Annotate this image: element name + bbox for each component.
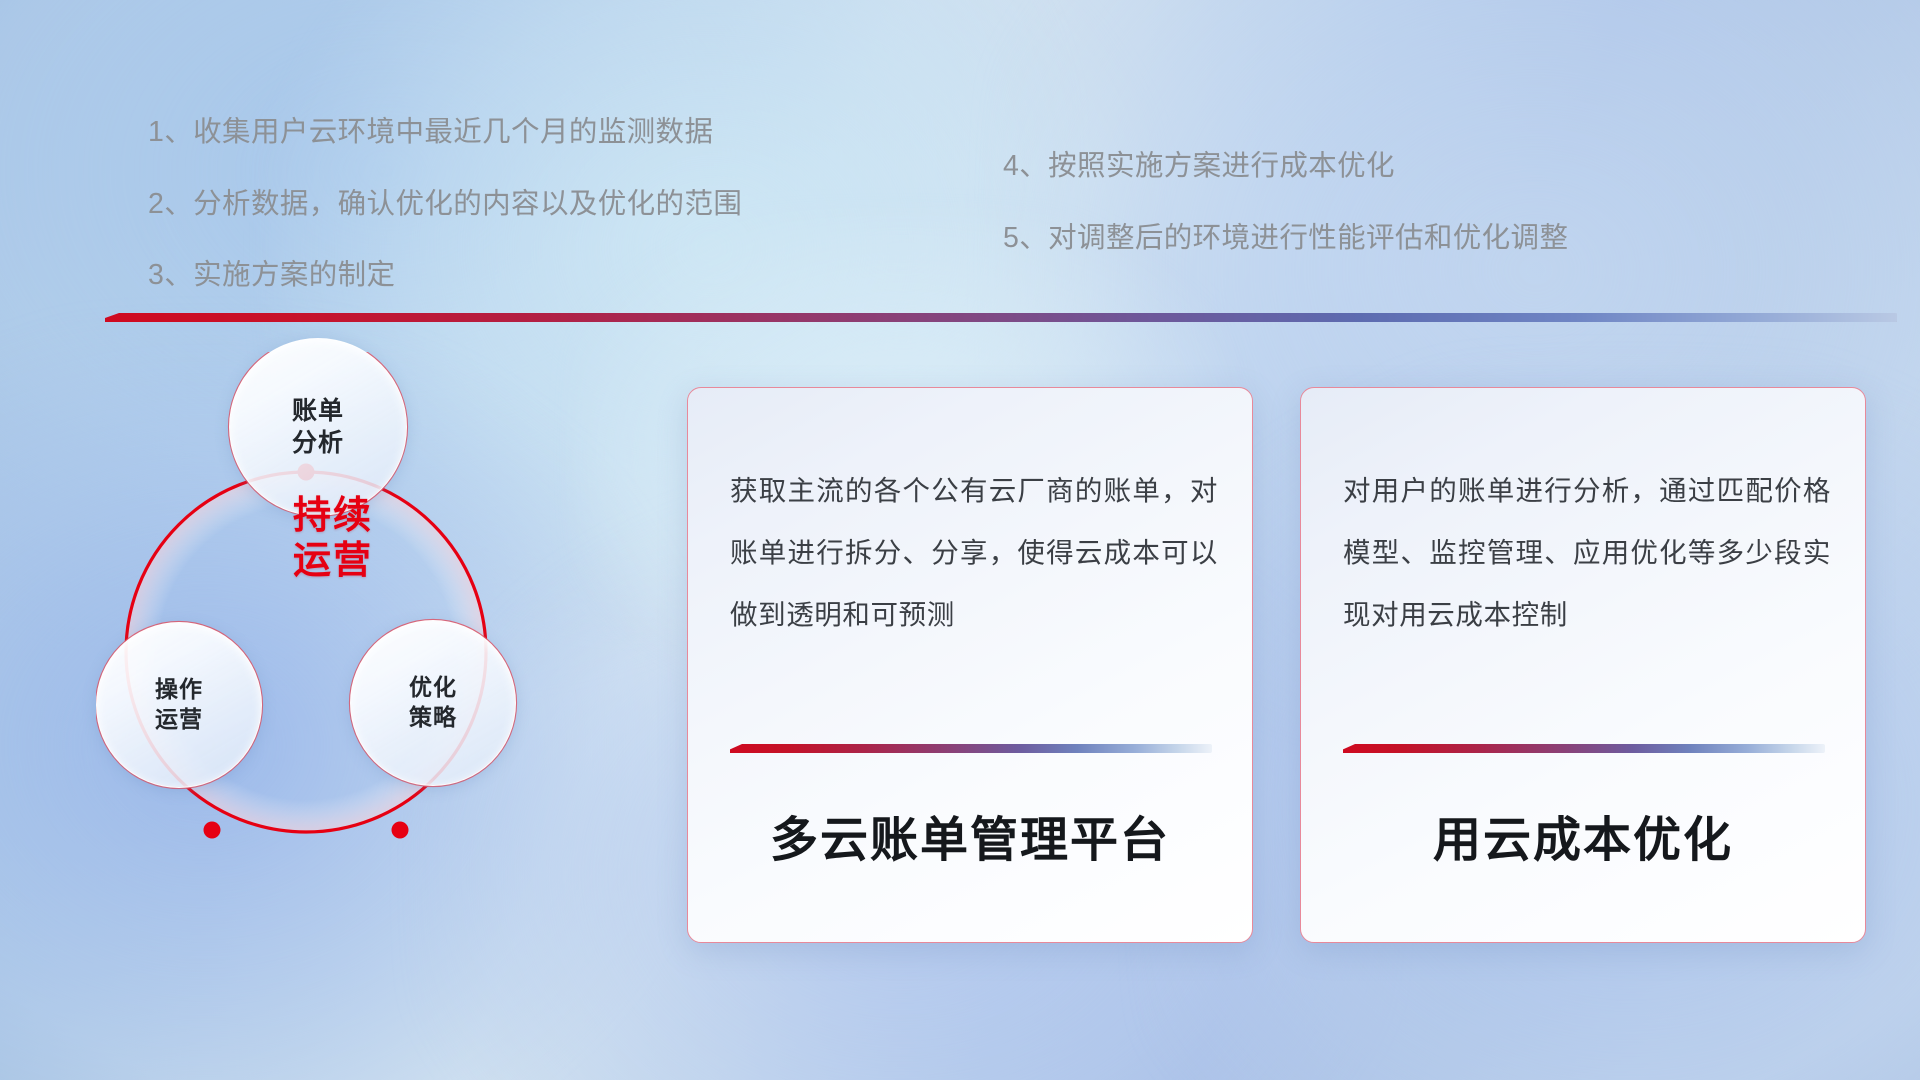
steps-right-column: 4、按照实施方案进行成本优化 5、对调整后的环境进行性能评估和优化调整	[1003, 152, 1568, 295]
card-title: 用云成本优化	[1301, 800, 1865, 870]
venn-node-operations-line2: 运营	[155, 705, 203, 735]
venn-center-label: 持续 运营	[248, 494, 418, 584]
card-multicloud-billing-platform[interactable]: 获取主流的各个公有云厂商的账单，对账单进行拆分、分享，使得云成本可以做到透明和可…	[687, 387, 1253, 943]
card-divider-rule	[1343, 744, 1825, 753]
card-cloud-cost-optimization[interactable]: 对用户的账单进行分析，通过匹配价格模型、监控管理、应用优化等多少段实现对用云成本…	[1300, 387, 1866, 943]
venn-marker-dot-left	[204, 822, 221, 839]
step-item-1: 1、收集用户云环境中最近几个月的监测数据	[148, 118, 742, 147]
venn-node-bill-analysis[interactable]: 账单 分析	[229, 338, 407, 516]
steps-left-column: 1、收集用户云环境中最近几个月的监测数据 2、分析数据，确认优化的内容以及优化的…	[148, 118, 742, 333]
venn-center-label-line1: 持续	[248, 494, 418, 539]
step-item-2: 2、分析数据，确认优化的内容以及优化的范围	[148, 190, 742, 219]
step-item-4: 4、按照实施方案进行成本优化	[1003, 152, 1568, 181]
venn-node-optimization-strategy-line1: 优化	[409, 673, 457, 703]
venn-node-operations[interactable]: 操作 运营	[96, 622, 262, 788]
venn-center-label-line2: 运营	[248, 539, 418, 584]
step-item-5: 5、对调整后的环境进行性能评估和优化调整	[1003, 224, 1568, 253]
venn-node-optimization-strategy-line2: 策略	[409, 703, 457, 733]
card-body-text: 对用户的账单进行分析，通过匹配价格模型、监控管理、应用优化等多少段实现对用云成本…	[1343, 460, 1831, 646]
venn-node-optimization-strategy[interactable]: 优化 策略	[350, 620, 516, 786]
step-item-3: 3、实施方案的制定	[148, 261, 742, 290]
steps-list: 1、收集用户云环境中最近几个月的监测数据 2、分析数据，确认优化的内容以及优化的…	[0, 0, 1920, 300]
venn-diagram: 账单 分析 操作 运营 优化 策略 持续 运营	[96, 352, 566, 942]
venn-marker-dot-right	[392, 822, 409, 839]
venn-node-bill-analysis-line2: 分析	[292, 427, 344, 460]
card-title: 多云账单管理平台	[688, 800, 1252, 870]
card-divider-rule	[730, 744, 1212, 753]
card-body-text: 获取主流的各个公有云厂商的账单，对账单进行拆分、分享，使得云成本可以做到透明和可…	[730, 460, 1218, 646]
section-divider-rule	[105, 313, 1897, 322]
venn-node-operations-line1: 操作	[155, 675, 203, 705]
venn-node-bill-analysis-line1: 账单	[292, 395, 344, 428]
